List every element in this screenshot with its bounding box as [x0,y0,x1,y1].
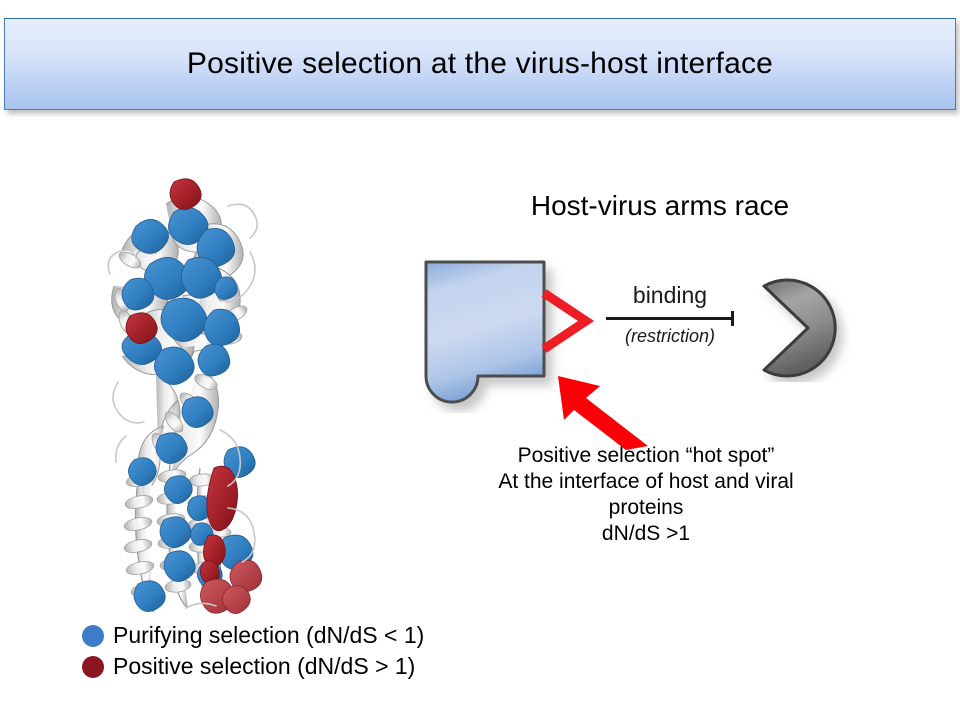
restriction-label: (restriction) [600,326,740,347]
legend-label-purifying: Purifying selection (dN/dS < 1) [113,622,424,649]
blue-circle-icon [82,625,104,647]
legend-label-positive: Positive selection (dN/dS > 1) [113,653,415,680]
hotspot-pointer-arrow [552,372,662,450]
caption-line-3: proteins [440,495,852,521]
dark-red-circle-icon [82,656,104,678]
hotspot-caption: Positive selection “hot spot” At the int… [440,443,852,547]
legend-item-purifying: Purifying selection (dN/dS < 1) [82,620,542,651]
protein-ribbon-structure [78,168,288,614]
legend: Purifying selection (dN/dS < 1) Positive… [82,620,542,682]
page-title: Positive selection at the virus-host int… [187,47,773,81]
binding-annotation: binding (restriction) [600,282,740,347]
axis-end-tick [731,311,734,326]
title-banner: Positive selection at the virus-host int… [4,18,956,110]
legend-item-positive: Positive selection (dN/dS > 1) [82,651,542,682]
binding-label: binding [600,282,740,309]
caption-line-1: Positive selection “hot spot” [440,443,852,469]
caption-line-2: At the interface of host and viral [440,469,852,495]
arms-race-heading: Host-virus arms race [470,190,850,222]
binding-axis-line [600,311,740,325]
axis-line [606,317,732,320]
virus-protein-wedge [752,276,872,382]
interface-wedge [544,293,586,349]
caption-line-4: dN/dS >1 [440,521,852,547]
